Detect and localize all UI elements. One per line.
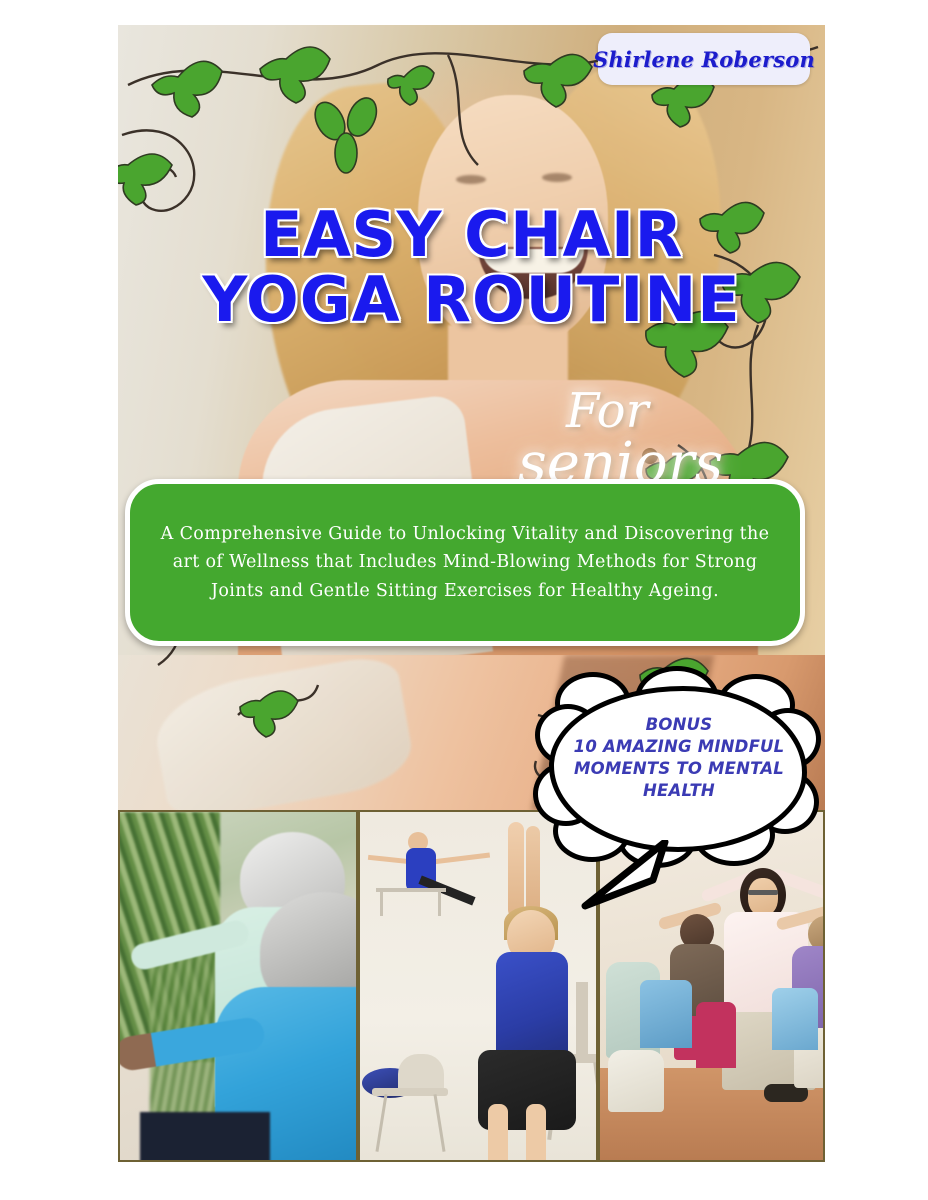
eye-left (456, 175, 486, 184)
class-chair-front (696, 1002, 736, 1068)
bonus-line-2: 10 AMAZING MINDFUL (561, 736, 797, 758)
eye-right (542, 173, 572, 182)
senior-lap (140, 1112, 270, 1162)
author-badge: Shirlene Roberson (598, 33, 810, 85)
class-chair-right (772, 988, 818, 1050)
book-cover-page: Shirlene Roberson EASY CHAIR YOGA ROUTIN… (0, 0, 928, 1200)
page-title: EASY CHAIR YOGA ROUTINE (118, 205, 825, 331)
bonus-line-3: MOMENTS TO MENTAL (561, 758, 797, 780)
bubble-text: BONUS 10 AMAZING MINDFUL MOMENTS TO MENT… (561, 714, 797, 802)
raised-arm-right (526, 826, 540, 918)
chair-backrest (398, 1054, 444, 1092)
raised-arm-left (508, 822, 524, 918)
book-cover: Shirlene Roberson EASY CHAIR YOGA ROUTIN… (118, 25, 825, 1162)
subtitle-box: A Comprehensive Guide to Unlocking Vital… (125, 479, 805, 646)
warrior-arm-left (368, 855, 410, 864)
bubble-shape: BONUS 10 AMAZING MINDFUL MOMENTS TO MENT… (543, 680, 815, 860)
yoga-woman-tanktop (496, 952, 568, 1062)
title-line-2: YOGA ROUTINE (118, 270, 825, 331)
big-chair-backrest (576, 982, 588, 1062)
bonus-callout: BONUS 10 AMAZING MINDFUL MOMENTS TO MENT… (543, 680, 823, 910)
bonus-line-1: BONUS (561, 714, 797, 736)
seniors-outdoor-photo (118, 810, 358, 1162)
class-chair-back (640, 980, 692, 1048)
chair-leg-2 (433, 1094, 445, 1152)
yoga-woman-shin-right (526, 1104, 546, 1162)
fabric-fold (149, 655, 418, 810)
bench-leg-1 (380, 892, 383, 916)
bonus-line-4: HEALTH (561, 780, 797, 802)
yoga-woman-shin-left (488, 1104, 508, 1162)
bench-leg-2 (438, 892, 441, 916)
bubble-tail (579, 840, 699, 910)
chair-leg-1 (375, 1094, 387, 1152)
title-line-1: EASY CHAIR (260, 198, 683, 271)
subtitle-text: A Comprehensive Guide to Unlocking Vital… (130, 520, 800, 605)
author-name: Shirlene Roberson (593, 47, 815, 72)
warrior-bench (376, 888, 446, 892)
empty-folding-chair (368, 1052, 454, 1152)
